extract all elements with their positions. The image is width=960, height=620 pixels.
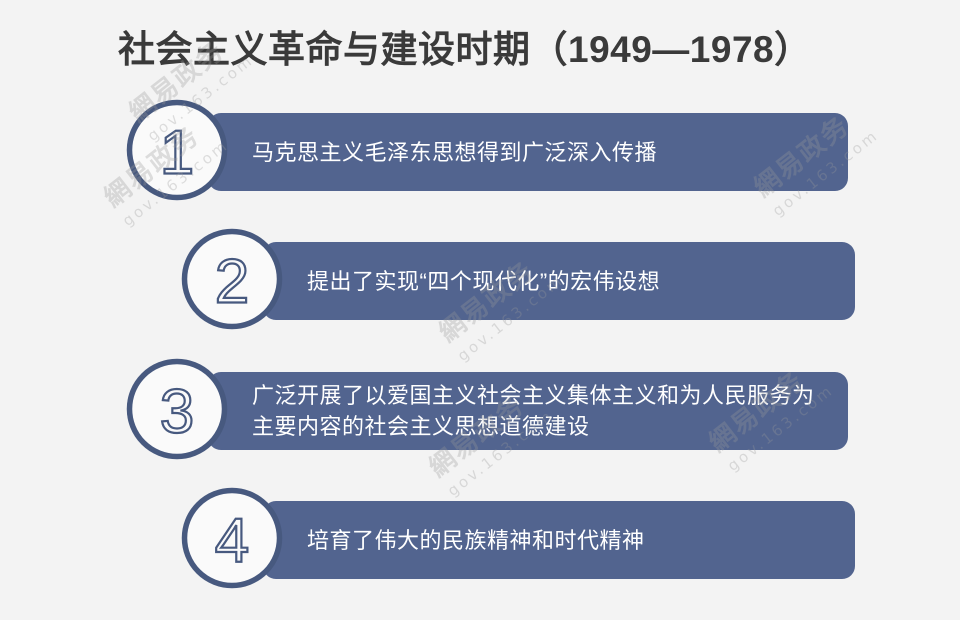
item-number-text-2: 2 xyxy=(215,248,249,317)
item-text-2: 提出了实现“四个现代化”的宏伟设想 xyxy=(263,266,660,297)
item-number-badge-3: 3 xyxy=(125,357,229,461)
item-number-badge-1: 1 xyxy=(125,98,229,202)
item-number-text-4: 4 xyxy=(215,507,249,576)
item-number-text-3: 3 xyxy=(160,378,194,447)
item-text-1: 马克思主义毛泽东思想得到广泛深入传播 xyxy=(208,137,657,168)
item-bar-4[interactable]: 培育了伟大的民族精神和时代精神 xyxy=(263,501,855,579)
infographic-canvas: 社会主义革命与建设时期（1949—1978） 马克思主义毛泽东思想得到广泛深入传… xyxy=(0,0,960,620)
item-number-badge-4: 4 xyxy=(180,486,284,590)
item-bar-3[interactable]: 广泛开展了以爱国主义社会主义集体主义和为人民服务为 主要内容的社会主义思想道德建… xyxy=(208,372,848,450)
item-number-badge-2: 2 xyxy=(180,227,284,331)
item-number-text-1: 1 xyxy=(160,119,194,188)
item-bar-2[interactable]: 提出了实现“四个现代化”的宏伟设想 xyxy=(263,242,855,320)
item-text-3: 广泛开展了以爱国主义社会主义集体主义和为人民服务为 主要内容的社会主义思想道德建… xyxy=(208,380,815,442)
page-title: 社会主义革命与建设时期（1949—1978） xyxy=(118,19,812,73)
item-text-4: 培育了伟大的民族精神和时代精神 xyxy=(263,525,645,556)
item-bar-1[interactable]: 马克思主义毛泽东思想得到广泛深入传播 xyxy=(208,113,848,191)
